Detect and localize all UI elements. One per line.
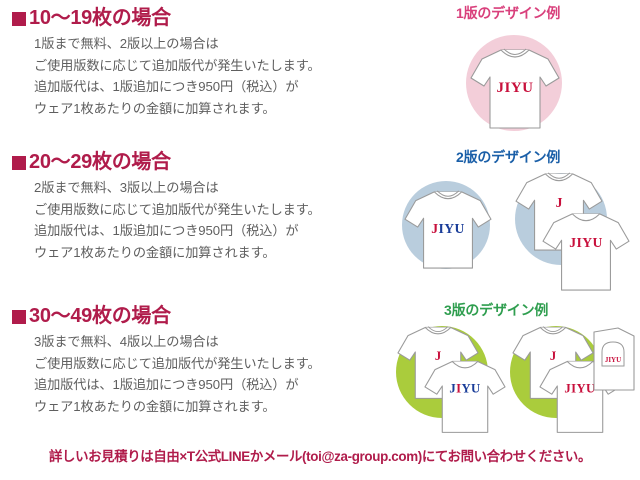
section-2-line-2: ご使用版数に応じて追加版代が発生いたします。: [34, 199, 430, 221]
design-example-2-title: 2版のデザイン例: [456, 150, 560, 164]
footer-contact-note: 詳しいお見積りは自由×T公式LINEかメール(toi@za-group.com)…: [0, 450, 640, 463]
tshirt-print-text-1: JIYU: [496, 80, 533, 96]
tshirt-print-text-3: JIYU: [449, 381, 480, 395]
tshirt-svg: JIYU: [402, 186, 494, 272]
filled-square-icon: [12, 156, 26, 170]
section-1-line-3: 追加版代は、1版追加につき950円（税込）が: [34, 76, 430, 98]
design-example-3: 3版のデザイン例 J JIYU: [360, 300, 640, 448]
section-2-line-4: ウェア1枚あたりの金額に加算されます。: [34, 242, 430, 264]
section-1-heading: 10〜19枚の場合: [12, 8, 430, 29]
tshirt-svg: JIYU: [422, 356, 508, 436]
pricing-section-2: 20〜29枚の場合 2版まで無料、3版以上の場合は ご使用版数に応じて追加版代が…: [0, 152, 430, 263]
sleeve-tag-svg: JIYU: [588, 326, 638, 396]
section-1-line-4: ウェア1枚あたりの金額に加算されます。: [34, 98, 430, 120]
design-example-3-title: 3版のデザイン例: [444, 303, 548, 317]
tshirt-svg: JIYU: [468, 44, 562, 132]
design-example-1: 1版のデザイン例 JIYU: [392, 2, 640, 148]
tshirt-print-text-2b: JIYU: [569, 235, 602, 250]
section-2-line-3: 追加版代は、1版追加につき950円（税込）が: [34, 220, 430, 242]
section-1-line-1: 1版まで無料、2版以上の場合は: [34, 33, 430, 55]
section-1-heading-text: 10〜19枚の場合: [29, 8, 171, 29]
tshirt-front-illustration: JIYU: [468, 44, 562, 137]
tshirt-print-text-2: JIYU: [431, 221, 464, 236]
sleeve-print-text: JIYU: [605, 356, 621, 364]
design-example-2: 2版のデザイン例 JIYU J: [380, 148, 640, 300]
design-example-1-title: 1版のデザイン例: [456, 6, 560, 20]
section-2-line-1: 2版まで無料、3版以上の場合は: [34, 177, 430, 199]
infographic-page: 10〜19枚の場合 1版まで無料、2版以上の場合は ご使用版数に応じて追加版代が…: [0, 0, 640, 480]
section-2-body: 2版まで無料、3版以上の場合は ご使用版数に応じて追加版代が発生いたします。 追…: [34, 177, 430, 263]
pricing-section-1: 10〜19枚の場合 1版まで無料、2版以上の場合は ご使用版数に応じて追加版代が…: [0, 8, 430, 119]
section-2-heading-text: 20〜29枚の場合: [29, 152, 171, 173]
section-2-heading: 20〜29枚の場合: [12, 152, 430, 173]
filled-square-icon: [12, 310, 26, 324]
tshirt-front-overlap-illustration: JIYU: [540, 208, 632, 299]
tshirt-svg: JIYU: [540, 208, 632, 294]
tshirt-sleeve-tag-illustration: JIYU: [588, 326, 638, 401]
section-1-line-2: ご使用版数に応じて追加版代が発生いたします。: [34, 55, 430, 77]
section-1-body: 1版まで無料、2版以上の場合は ご使用版数に応じて追加版代が発生いたします。 追…: [34, 33, 430, 119]
filled-square-icon: [12, 12, 26, 26]
section-3-heading-text: 30〜49枚の場合: [29, 306, 171, 327]
tshirt-front-overlap-illustration: JIYU: [422, 356, 508, 441]
tshirt-front-illustration: JIYU: [402, 186, 494, 277]
